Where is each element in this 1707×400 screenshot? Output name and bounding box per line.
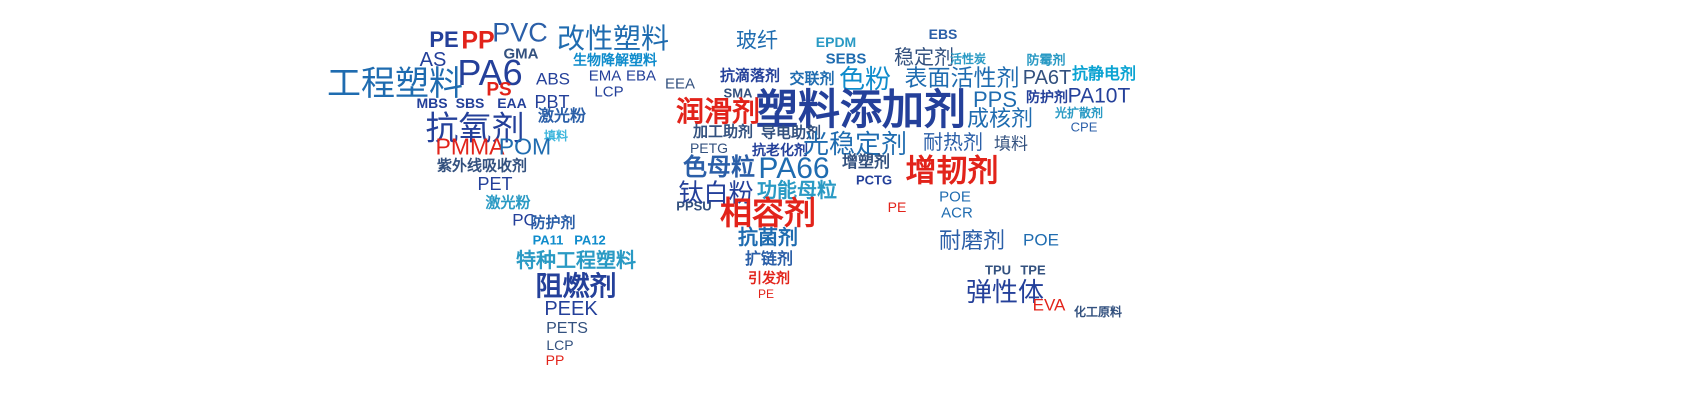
word-cloud-term[interactable]: 玻纤 xyxy=(736,31,778,52)
word-cloud-term[interactable]: AS xyxy=(420,50,447,70)
word-cloud-term[interactable]: LCP xyxy=(594,85,623,100)
word-cloud-term[interactable]: SBS xyxy=(456,96,485,110)
word-cloud-term[interactable]: EVA xyxy=(1033,297,1066,314)
word-cloud-term[interactable]: EPDM xyxy=(816,35,856,49)
word-cloud-term[interactable]: CPE xyxy=(1071,121,1098,134)
word-cloud-term[interactable]: PA6T xyxy=(1023,68,1072,88)
word-cloud-term[interactable]: PA11 xyxy=(533,234,564,247)
word-cloud-term[interactable]: EMA xyxy=(589,69,622,84)
word-cloud-term[interactable]: 特种工程塑料 xyxy=(516,251,636,271)
word-cloud-term[interactable]: PETG xyxy=(690,141,728,155)
word-cloud-term[interactable]: 耐磨剂 xyxy=(939,230,1005,252)
word-cloud-canvas: 工程塑料PEPPPVCGMAASPA6ABSPSMBSSBSEAAPBT抗氧剂激… xyxy=(0,0,1707,400)
word-cloud-term[interactable]: 扩链剂 xyxy=(745,252,793,268)
word-cloud-term[interactable]: PE xyxy=(429,29,458,51)
word-cloud-term[interactable]: 抗滴落剂 xyxy=(720,69,780,84)
word-cloud-term[interactable]: 活性炭 xyxy=(950,53,986,65)
word-cloud-term[interactable]: 增韧剂 xyxy=(906,156,999,187)
word-cloud-term[interactable]: 化工原料 xyxy=(1074,306,1122,318)
word-cloud-term[interactable]: 防护剂 xyxy=(530,216,575,231)
word-cloud-term[interactable]: PVC xyxy=(492,20,548,47)
word-cloud-term[interactable]: 激光粉 xyxy=(485,196,530,211)
word-cloud-term[interactable]: POE xyxy=(939,190,971,205)
word-cloud-term[interactable]: PP xyxy=(546,353,565,367)
word-cloud-term[interactable]: 相容剂 xyxy=(720,197,816,229)
word-cloud-term[interactable]: PCTG xyxy=(856,174,892,187)
word-cloud-term[interactable]: PE xyxy=(888,200,907,214)
word-cloud-term[interactable]: PEEK xyxy=(544,299,597,319)
word-cloud-term[interactable]: 耐热剂 xyxy=(923,133,983,153)
word-cloud-term[interactable]: 紫外线吸收剂 xyxy=(437,159,527,174)
word-cloud-term[interactable]: 色母粒 xyxy=(683,156,755,180)
word-cloud-term[interactable]: 填料 xyxy=(994,136,1028,153)
word-cloud-term[interactable]: EEA xyxy=(665,77,695,92)
word-cloud-term[interactable]: 光扩散剂 xyxy=(1055,107,1103,119)
word-cloud-term[interactable]: PE xyxy=(758,288,774,300)
word-cloud-term[interactable]: 防霉剂 xyxy=(1026,54,1065,67)
word-cloud-term[interactable]: EBA xyxy=(626,69,656,84)
word-cloud-term[interactable]: MBS xyxy=(416,96,447,110)
word-cloud-term[interactable]: TPE xyxy=(1020,264,1045,277)
word-cloud-term[interactable]: 激光粉 xyxy=(538,109,586,125)
word-cloud-term[interactable]: EBS xyxy=(929,27,958,41)
word-cloud-term[interactable]: LCP xyxy=(546,338,573,352)
word-cloud-term[interactable]: PA10T xyxy=(1068,86,1131,107)
word-cloud-term[interactable]: PA12 xyxy=(574,234,606,247)
word-cloud-term[interactable]: PET xyxy=(477,175,512,193)
word-cloud-term[interactable]: 引发剂 xyxy=(748,271,790,285)
word-cloud-term[interactable]: PPSU xyxy=(676,200,711,213)
word-cloud-term[interactable]: ACR xyxy=(941,206,973,221)
word-cloud-term[interactable]: EAA xyxy=(497,96,527,110)
word-cloud-term[interactable]: 抗静电剂 xyxy=(1072,67,1136,83)
word-cloud-term[interactable]: 交联剂 xyxy=(789,72,834,87)
word-cloud-term[interactable]: 成核剂 xyxy=(967,108,1033,130)
word-cloud-term[interactable]: PMMA xyxy=(436,136,505,159)
word-cloud-term[interactable]: PP xyxy=(461,29,494,54)
word-cloud-term[interactable]: 阻燃剂 xyxy=(536,274,617,301)
word-cloud-term[interactable]: 改性塑料 xyxy=(557,25,669,53)
word-cloud-term[interactable]: ABS xyxy=(536,71,570,88)
word-cloud-term[interactable]: PETS xyxy=(546,321,588,337)
word-cloud-term[interactable]: POE xyxy=(1023,232,1059,249)
word-cloud-term[interactable]: 增塑剂 xyxy=(842,155,890,171)
word-cloud-term[interactable]: 生物降解塑料 xyxy=(573,53,657,67)
word-cloud-term[interactable]: 抗菌剂 xyxy=(738,228,798,248)
word-cloud-term[interactable]: POM xyxy=(499,136,551,159)
word-cloud-term[interactable]: 润滑剂 xyxy=(676,98,760,126)
word-cloud-term[interactable]: 防护剂 xyxy=(1026,90,1068,104)
word-cloud-term[interactable]: 加工助剂 xyxy=(693,125,753,140)
word-cloud-term[interactable]: TPU xyxy=(985,264,1011,277)
